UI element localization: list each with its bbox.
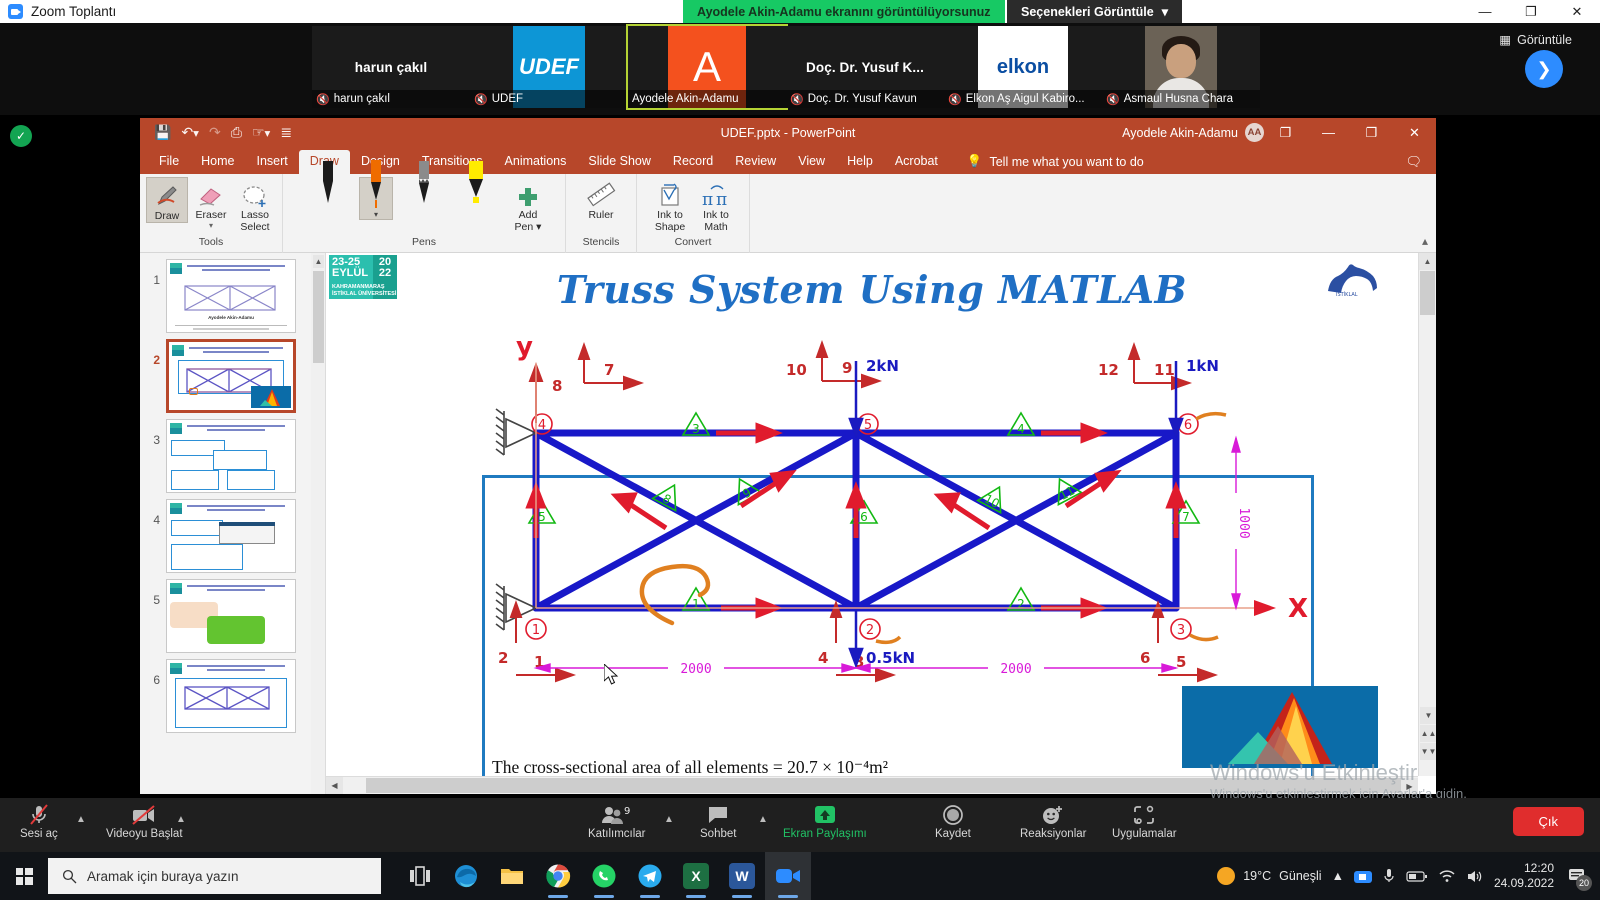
video-tile[interactable]: elkon 🔇 Elkon Aş Aigul Kabiro... [944, 26, 1102, 108]
file-explorer-icon[interactable] [489, 852, 535, 900]
svg-text:π: π [716, 190, 727, 209]
svg-text:5: 5 [1176, 653, 1186, 671]
add-pen-label-2: Pen ▾ [515, 222, 542, 233]
thumbnail-row[interactable]: 1 Ayodele Akin-Adamu [140, 253, 325, 333]
tab-slide-show[interactable]: Slide Show [577, 150, 662, 174]
svg-text:4: 4 [818, 649, 828, 667]
excel-icon[interactable]: X [673, 852, 719, 900]
svg-text:5: 5 [864, 418, 872, 433]
taskbar-app-icons: X W [397, 852, 811, 900]
tile-name: UDEF [492, 93, 523, 105]
account-avatar: AA [1245, 123, 1264, 142]
thumbnail-row[interactable]: 5 [140, 573, 325, 653]
leave-meeting-button[interactable]: Çık [1513, 807, 1585, 836]
tile-center-name: harun çakıl [355, 60, 427, 75]
svg-text:10: 10 [786, 361, 807, 379]
record-label: Kaydet [935, 828, 971, 840]
record-icon [942, 804, 964, 826]
reactions-button[interactable]: Reaksiyonlar [1020, 804, 1086, 840]
ink-to-math-icon: π π [701, 179, 731, 209]
svg-text:2: 2 [498, 649, 508, 667]
slide-number: 6 [146, 659, 160, 687]
ribbon-group-stencils: Ruler Stencils [566, 174, 637, 253]
edge-icon[interactable] [443, 852, 489, 900]
share-screen-label: Ekran Paylaşımı [783, 828, 867, 840]
battery-icon[interactable] [1406, 870, 1428, 883]
tile-name-bar: 🔇 harun çakıl [312, 90, 470, 108]
zoom-close-button[interactable]: ✕ [1554, 0, 1600, 23]
record-button[interactable]: Kaydet [935, 804, 971, 840]
screen-share-banner-text: Ayodele Akin-Adamu ekranını görüntülüyor… [697, 5, 991, 19]
mic-muted-icon [28, 804, 50, 826]
eraser-label: Eraser [196, 210, 227, 221]
slide-thumbnail[interactable] [166, 659, 296, 733]
svg-text:7: 7 [1182, 510, 1190, 524]
ribbon-group-label-stencils: Stencils [583, 236, 620, 248]
svg-text:1kN: 1kN [1186, 357, 1219, 375]
ribbon-group-tools: Draw Eraser ▾ [140, 174, 283, 253]
draw-tool-label: Draw [155, 211, 180, 222]
sun-icon [1217, 867, 1235, 885]
participants-button[interactable]: 9 Katılımcılar [588, 804, 646, 840]
slide-title: Truss System Using MATLAB [326, 267, 1418, 312]
tile-name-bar: 🔇 UDEF [470, 90, 628, 108]
ink-stroke-node3 [1190, 635, 1218, 640]
svg-text:1: 1 [692, 597, 700, 611]
ink-to-math-button[interactable]: π π Ink to Math [695, 177, 737, 233]
highlighter-yellow-button[interactable] [455, 177, 497, 209]
ink-to-shape-icon [656, 179, 684, 209]
svg-text:9: 9 [842, 359, 852, 377]
mouse-cursor [604, 664, 620, 686]
slide-number: 3 [146, 419, 160, 447]
tab-home[interactable]: Home [190, 150, 245, 174]
collapse-ribbon-icon[interactable]: ▴ [1422, 234, 1428, 248]
participant-video-strip: harun çakıl 🔇 harun çakıl UDEF 🔇 UDEF A … [0, 23, 1600, 115]
slide-thumbnail[interactable] [166, 499, 296, 573]
excel-glyph: X [683, 863, 709, 889]
tab-animations[interactable]: Animations [494, 150, 578, 174]
ppt-minimize-button[interactable]: — [1307, 118, 1350, 147]
show-hidden-icons-chevron[interactable]: ▲ [1332, 869, 1344, 883]
svg-text:2000: 2000 [1000, 662, 1031, 677]
clock[interactable]: 12:20 24.09.2022 [1494, 861, 1554, 891]
tile-name-bar: 🔇 Doç. Dr. Yusuf Kavun [786, 90, 944, 108]
chat-label: Sohbet [700, 828, 736, 840]
plus-icon [517, 179, 539, 209]
add-pen-button[interactable]: Add Pen ▾ [507, 177, 549, 233]
slide-number: 1 [146, 259, 160, 287]
mic-muted-icon: 🔇 [948, 93, 962, 106]
svg-text:3: 3 [1177, 623, 1185, 638]
ruler-button[interactable]: Ruler [580, 177, 622, 221]
scroll-left-icon[interactable]: ◀ [326, 777, 343, 794]
ink-stroke-node2 [876, 637, 900, 642]
orange-pen-icon [366, 180, 386, 210]
pen-orange-button[interactable]: ▾ [359, 177, 393, 220]
tell-me-search[interactable]: 💡 Tell me what you want to do [949, 154, 1144, 174]
telegram-icon[interactable] [627, 852, 673, 900]
comments-icon[interactable]: 🗨 [1405, 154, 1422, 170]
reactions-label: Reaksiyonlar [1020, 828, 1086, 840]
video-tile-active[interactable]: A Ayodele Akin-Adamu [628, 26, 786, 108]
task-view-icon[interactable] [397, 852, 443, 900]
audio-options-caret-icon[interactable]: ▲ [76, 814, 86, 825]
windows-logo-icon [16, 868, 33, 885]
start-video-label: Videoyu Başlat [106, 828, 183, 840]
elkon-logo-text: elkon [997, 56, 1049, 79]
tile-name: harun çakıl [334, 93, 390, 105]
microphone-tray-icon[interactable] [1382, 868, 1396, 884]
word-icon[interactable]: W [719, 852, 765, 900]
tile-name-bar: Ayodele Akin-Adamu [628, 90, 786, 108]
ppt-close-button[interactable]: ✕ [1393, 118, 1436, 147]
slide-caption: The cross-sectional area of all elements… [492, 757, 888, 778]
view-layout-label: Görüntüle [1517, 33, 1572, 47]
notification-count: 20 [1576, 875, 1592, 891]
scroll-down-icon[interactable]: ▼ [1420, 707, 1436, 724]
ruler-label: Ruler [588, 210, 613, 221]
slide-number: 4 [146, 499, 160, 527]
horse-logo-icon: İSTİKLAL [1322, 261, 1384, 297]
lasso-select-button[interactable]: Lasso Select [234, 177, 276, 233]
lasso-label: Lasso [241, 210, 269, 221]
weather-temp: 19°C [1243, 869, 1271, 883]
wifi-icon[interactable] [1438, 869, 1456, 883]
share-screen-button[interactable]: Ekran Paylaşımı [783, 804, 867, 840]
svg-text:2kN: 2kN [866, 357, 899, 375]
black-pen-icon [318, 179, 338, 209]
svg-text:7: 7 [604, 361, 614, 379]
video-tile[interactable]: UDEF 🔇 UDEF [470, 26, 628, 108]
udef-logo-text: UDEF [519, 54, 579, 80]
powerpoint-title-bar: 💾 ↶▾ ↷ ⎙ ☞▾ ≣ UDEF.pptx - PowerPoint Ayo… [140, 118, 1436, 147]
thumbnail-row-current[interactable]: 2 [140, 333, 325, 413]
scroll-up-icon[interactable]: ▲ [313, 255, 324, 268]
select-label: Select [240, 222, 269, 233]
zoom-window-title: Zoom Toplantı [31, 4, 116, 19]
matlab-figure-thumbnail[interactable] [1182, 686, 1378, 768]
zoom-meeting-toolbar: Sesi aç ▲ Videoyu Başlat ▲ 9 [0, 798, 1600, 852]
svg-text:1000: 1000 [1236, 507, 1251, 538]
ribbon-group-label-pens: Pens [412, 236, 436, 248]
grey-pencil-icon [414, 179, 434, 209]
slide-number: 2 [146, 339, 160, 367]
thumbnail-row[interactable]: 3 [140, 413, 325, 493]
svg-text:2: 2 [866, 623, 874, 638]
tell-me-label: Tell me what you want to do [989, 155, 1143, 169]
ribbon-group-label-convert: Convert [675, 236, 712, 248]
lasso-icon [241, 179, 269, 209]
chat-button[interactable]: Sohbet [700, 804, 736, 840]
view-options-button[interactable]: Seçenekleri Görüntüle ▾ [1007, 0, 1182, 23]
eraser-icon [197, 179, 225, 209]
volume-icon[interactable] [1466, 869, 1484, 884]
video-tile[interactable]: 🔇 Asmaul Husna Chara [1102, 26, 1260, 108]
view-layout-button[interactable]: ▦ Görüntüle [1499, 32, 1572, 47]
tab-record[interactable]: Record [662, 150, 724, 174]
tab-insert[interactable]: Insert [246, 150, 299, 174]
previous-slide-icon[interactable]: ▲▲ [1420, 725, 1436, 742]
ink-annotation-circle [642, 566, 708, 623]
chevron-right-icon: ❯ [1525, 50, 1563, 88]
account-area[interactable]: Ayodele Akin-Adamu AA [1122, 123, 1264, 142]
tab-review[interactable]: Review [724, 150, 787, 174]
participants-icon: 9 [600, 804, 634, 826]
svg-text:4: 4 [538, 418, 546, 433]
thumbnail-scrollbar[interactable]: ▲ [311, 253, 325, 794]
slide-vertical-scrollbar[interactable]: ▲ ▼ ▲▲ ▼▼ [1418, 253, 1436, 776]
zoom-logo-icon [8, 4, 23, 19]
pen-draw-icon [153, 180, 181, 210]
apps-icon [1133, 804, 1155, 826]
thumbnail-row[interactable]: 4 [140, 493, 325, 573]
slide-pane[interactable]: 23-25 EYLÜL KAHRAMANMARAŞ İSTİKLAL ÜNİVE… [326, 253, 1436, 794]
slide-thumbnail-pane[interactable]: 1 Ayodele Akin-Adamu 2 [140, 253, 326, 794]
ink-to-shape-button[interactable]: Ink to Shape [649, 177, 691, 233]
svg-text:İSTİKLAL: İSTİKLAL [1336, 291, 1358, 297]
mic-muted-icon: 🔇 [316, 93, 330, 106]
screen: Zoom Toplantı — ❐ ✕ Ayodele Akin-Adamu e… [0, 0, 1600, 900]
tab-acrobat[interactable]: Acrobat [884, 150, 949, 174]
ppt-maximize-button[interactable]: ❐ [1350, 118, 1393, 147]
system-tray: 19°C Güneşli ▲ [1217, 852, 1600, 900]
strip-spacer [0, 23, 312, 115]
view-options-label: Seçenekleri Görüntüle [1021, 5, 1154, 19]
windows-taskbar: Aramak için buraya yazın [0, 852, 1600, 900]
lightbulb-icon: 💡 [967, 154, 983, 169]
security-shield-icon: ✓ [10, 125, 32, 147]
chevron-down-icon[interactable]: ▾ [209, 222, 213, 230]
svg-text:11: 11 [1154, 361, 1175, 379]
apps-label: Uygulamalar [1112, 828, 1177, 840]
avatar-initial-text: A [693, 43, 721, 91]
weather-widget[interactable]: 19°C Güneşli [1217, 867, 1321, 885]
svg-text:0.5kN: 0.5kN [866, 649, 915, 667]
search-placeholder: Aramak için buraya yazın [87, 869, 239, 884]
pen-black-button[interactable] [307, 177, 349, 209]
tile-center-name: Doç. Dr. Yusuf K... [806, 60, 924, 75]
pencil-grey-button[interactable] [403, 177, 445, 209]
video-options-caret-icon[interactable]: ▲ [176, 814, 186, 825]
ribbon-group-pens: ▾ [283, 174, 566, 253]
chat-icon [707, 804, 729, 826]
tile-name: Ayodele Akin-Adamu [632, 93, 739, 105]
axis-x-label: X [1288, 594, 1308, 624]
ink-to-shape-label-1: Ink to [657, 210, 683, 221]
grid-view-icon: ▦ [1499, 32, 1511, 47]
svg-text:1: 1 [532, 623, 540, 638]
video-off-icon [131, 804, 157, 826]
clock-date: 24.09.2022 [1494, 876, 1554, 891]
screen-share-banner: Ayodele Akin-Adamu ekranını görüntülüyor… [683, 0, 1005, 23]
powerpoint-body: 1 Ayodele Akin-Adamu 2 [140, 253, 1436, 794]
zoom-tray-icon[interactable] [1354, 869, 1372, 884]
chat-caret-icon[interactable]: ▲ [758, 814, 768, 825]
share-screen-icon [812, 804, 838, 826]
participants-label: Katılımcılar [588, 828, 646, 840]
search-icon [62, 869, 77, 884]
ink-to-math-label-2: Math [704, 222, 727, 233]
add-pen-label-1: Add [519, 210, 538, 221]
slide-canvas[interactable]: 23-25 EYLÜL KAHRAMANMARAŞ İSTİKLAL ÜNİVE… [326, 253, 1418, 776]
notification-center-button[interactable]: 20 [1564, 863, 1590, 889]
participants-caret-icon[interactable]: ▲ [664, 814, 674, 825]
thumbnail-row[interactable]: 6 [140, 653, 325, 733]
ribbon-group-label-tools: Tools [199, 236, 224, 248]
mic-muted-icon: 🔇 [1106, 93, 1120, 106]
start-video-button[interactable]: Videoyu Başlat [106, 804, 183, 840]
slide-number: 5 [146, 579, 160, 607]
zoom-maximize-button[interactable]: ❐ [1508, 0, 1554, 23]
svg-text:6: 6 [860, 510, 868, 524]
tile-name: Elkon Aş Aigul Kabiro... [966, 93, 1085, 105]
ruler-icon [586, 179, 616, 209]
whatsapp-icon[interactable] [581, 852, 627, 900]
start-button[interactable] [0, 852, 48, 900]
svg-text:5: 5 [538, 510, 546, 524]
zoom-minimize-button[interactable]: — [1462, 0, 1508, 23]
svg-text:12: 12 [1098, 361, 1119, 379]
ink-stroke-node6 [1196, 414, 1226, 419]
word-glyph: W [729, 863, 755, 889]
tile-name-bar: 🔇 Asmaul Husna Chara [1102, 90, 1260, 108]
eraser-tool-button[interactable]: Eraser ▾ [190, 177, 232, 230]
account-name: Ayodele Akin-Adamu [1122, 126, 1238, 140]
svg-text:6: 6 [1184, 418, 1192, 433]
svg-text:4: 4 [1017, 422, 1025, 436]
mic-muted-icon: 🔇 [790, 93, 804, 106]
apps-button[interactable]: Uygulamalar [1112, 804, 1177, 840]
search-input[interactable]: Aramak için buraya yazın [48, 858, 381, 894]
windows-activation-watermark-title: Windows'u Etkinleştir [1210, 760, 1417, 786]
svg-text:π: π [702, 190, 713, 209]
reactions-icon [1041, 804, 1065, 826]
video-tile[interactable]: harun çakıl 🔇 harun çakıl [312, 26, 470, 108]
svg-text:8: 8 [552, 377, 562, 395]
yellow-highlighter-icon [465, 179, 487, 209]
tab-file[interactable]: File [148, 150, 190, 174]
ink-to-math-label-1: Ink to [703, 210, 729, 221]
draw-tool-button[interactable]: Draw [146, 177, 188, 223]
next-slide-icon[interactable]: ▼▼ [1420, 743, 1436, 760]
tile-name: Asmaul Husna Chara [1124, 93, 1233, 105]
tile-name-bar: 🔇 Elkon Aş Aigul Kabiro... [944, 90, 1102, 108]
slide-thumbnail[interactable] [166, 579, 296, 653]
svg-text:3: 3 [692, 422, 700, 436]
unmute-button[interactable]: Sesi aç [20, 804, 58, 840]
chrome-icon[interactable] [535, 852, 581, 900]
svg-text:9: 9 [624, 806, 630, 817]
video-tile[interactable]: Doç. Dr. Yusuf K... 🔇 Doç. Dr. Yusuf Kav… [786, 26, 944, 108]
slide-thumbnail[interactable] [166, 419, 296, 493]
mic-muted-icon: 🔇 [474, 93, 488, 106]
scroll-up-icon[interactable]: ▲ [1419, 253, 1436, 270]
chevron-down-icon: ▾ [1162, 4, 1168, 19]
unmute-label: Sesi aç [20, 828, 58, 840]
scrollbar-thumb[interactable] [313, 271, 324, 363]
scrollbar-thumb[interactable] [1420, 271, 1435, 315]
tile-name: Doç. Dr. Yusuf Kavun [808, 93, 917, 105]
zoom-icon[interactable] [765, 852, 811, 900]
powerpoint-window: 💾 ↶▾ ↷ ⎙ ☞▾ ≣ UDEF.pptx - PowerPoint Ayo… [140, 118, 1436, 794]
ribbon: Draw Eraser ▾ [140, 174, 1436, 253]
svg-text:2000: 2000 [680, 662, 711, 677]
svg-text:6: 6 [1140, 649, 1150, 667]
ink-to-shape-label-2: Shape [655, 222, 685, 233]
svg-text:2: 2 [1017, 597, 1025, 611]
axis-y-label: y [516, 332, 533, 362]
tab-view[interactable]: View [787, 150, 836, 174]
slide-thumbnail[interactable]: Ayodele Akin-Adamu [166, 259, 296, 333]
powerpoint-window-controls: ❐ — ❐ ✕ [1264, 118, 1436, 147]
chevron-down-icon[interactable]: ▾ [374, 211, 378, 219]
clock-time: 12:20 [1524, 861, 1554, 876]
weather-desc: Güneşli [1279, 869, 1321, 883]
tab-help[interactable]: Help [836, 150, 884, 174]
ribbon-display-options-icon[interactable]: ❐ [1264, 118, 1307, 147]
zoom-window-controls: — ❐ ✕ [1462, 0, 1600, 23]
slide-thumbnail-selected[interactable] [166, 339, 296, 413]
ribbon-group-convert: Ink to Shape π π Ink to Math [637, 174, 750, 253]
